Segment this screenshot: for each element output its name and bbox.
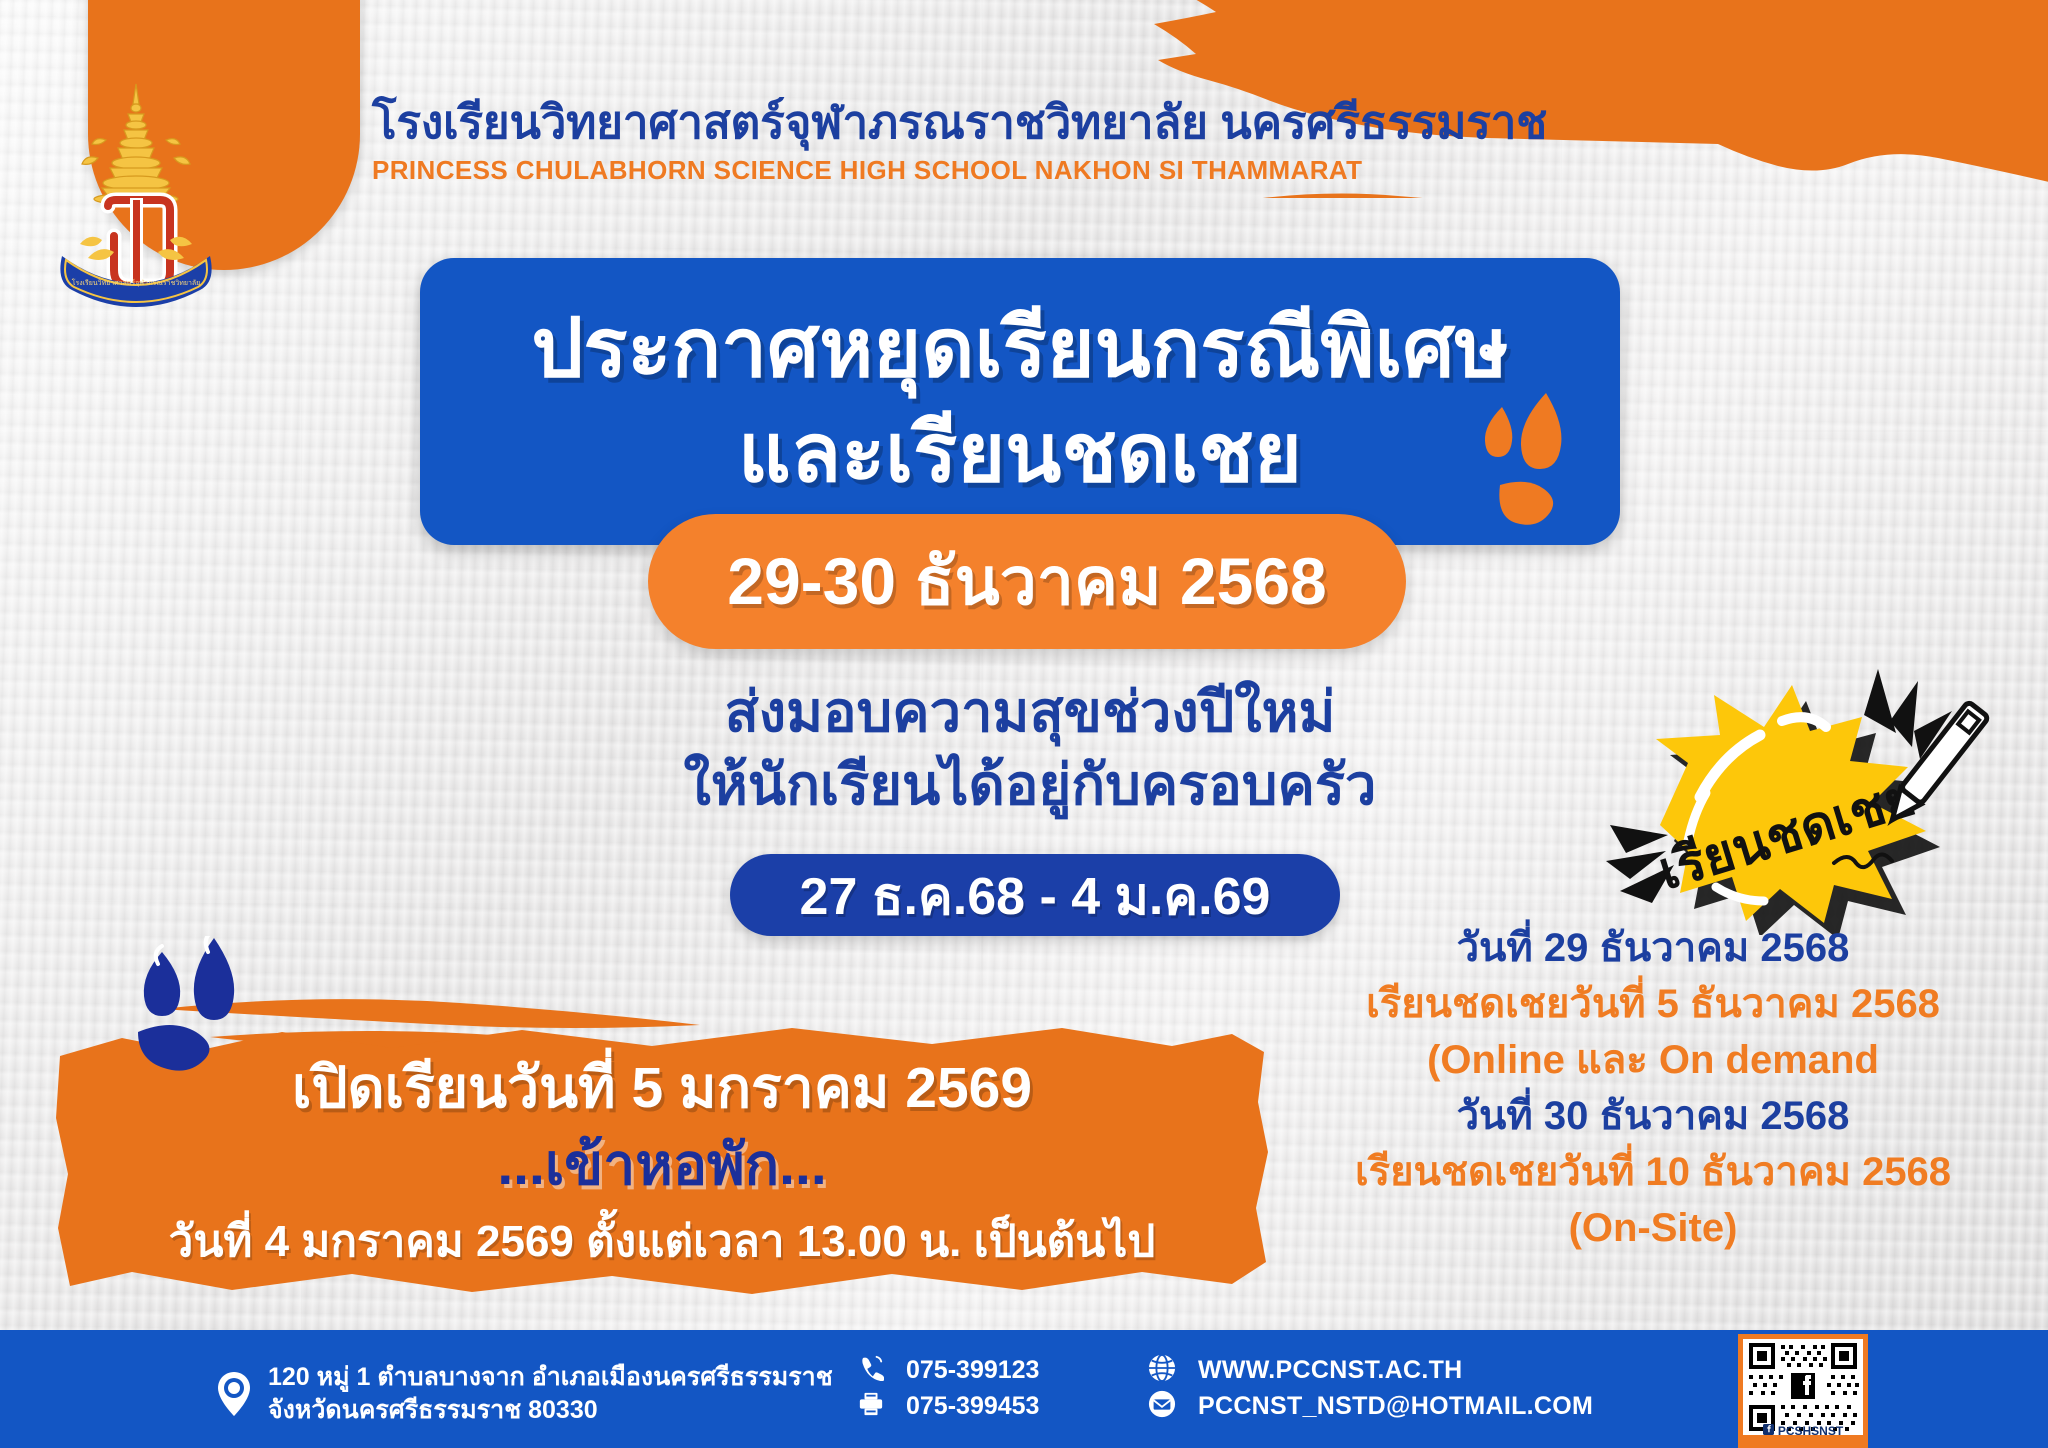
makeup-line-5: เรียนชดเชยวันที่ 10 ธันวาคม 2568 xyxy=(1258,1144,2048,1200)
footer-phone-row: 075-399123 xyxy=(858,1352,1039,1388)
message-line-1: ส่งมอบความสุขช่วงปีใหม่ xyxy=(560,676,1500,749)
envelope-icon xyxy=(1148,1390,1184,1423)
fax-number: 075-399453 xyxy=(906,1392,1039,1421)
facebook-icon xyxy=(1763,1424,1774,1438)
title-line-1: ประกาศหยุดเรียนกรณีพิเศษ xyxy=(531,305,1508,394)
message-block: ส่งมอบความสุขช่วงปีใหม่ ให้นักเรียนได้อย… xyxy=(560,676,1500,822)
address-line-1: 120 หมู่ 1 ตำบลบางจาก อำเภอเมืองนครศรีธร… xyxy=(268,1361,833,1394)
makeup-line-3: (Online และ On demand xyxy=(1258,1032,2048,1088)
holiday-date-text: 29-30 ธันวาคม 2568 xyxy=(727,529,1326,634)
announcement-title-card: ประกาศหยุดเรียนกรณีพิเศษ และเรียนชดเชย xyxy=(420,258,1620,545)
reopen-line-1: เปิดเรียนวันที่ 5 มกราคม 2569 xyxy=(292,1057,1032,1120)
footer-address-lines: 120 หมู่ 1 ตำบลบางจาก อำเภอเมืองนครศรีธร… xyxy=(268,1361,833,1426)
makeup-line-6: (On-Site) xyxy=(1258,1200,2048,1256)
makeup-class-badge: เรียนชดเชย xyxy=(1596,655,2006,935)
message-line-2: ให้นักเรียนได้อยู่กับครอบครัว xyxy=(560,749,1500,822)
footer-web-group: WWW.PCCNST.AC.TH PCCNST_NSTD@HOTMAIL.COM xyxy=(1148,1352,1593,1424)
holiday-range-pill: 27 ธ.ค.68 - 4 ม.ค.69 xyxy=(730,854,1340,936)
makeup-line-1: วันที่ 29 ธันวาคม 2568 xyxy=(1258,920,2048,976)
phone-icon xyxy=(858,1355,892,1386)
header-block: โรงเรียนวิทยาศาสตร์จุฬาภรณราชวิทยาลัย นค… xyxy=(372,96,1552,186)
globe-icon xyxy=(1148,1354,1184,1387)
footer-address: 120 หมู่ 1 ตำบลบางจาก อำเภอเมืองนครศรีธร… xyxy=(212,1361,833,1426)
school-crest: โรงเรียนวิทยาศาสตร์จุฬาภรณราชวิทยาลัย xyxy=(0,60,272,330)
reopen-line-2: ...เข้าหอพัก... xyxy=(497,1134,826,1197)
title-line-2: และเรียนชดเชย xyxy=(738,410,1302,499)
orange-droplets-icon xyxy=(1464,389,1594,539)
location-pin-icon xyxy=(212,1371,256,1417)
reopen-info-block: เปิดเรียนวันที่ 5 มกราคม 2569 ...เข้าหอพ… xyxy=(52,1022,1272,1302)
fax-icon xyxy=(858,1391,892,1422)
footer-fax-row: 075-399453 xyxy=(858,1388,1039,1424)
qr-code-image xyxy=(1743,1339,1863,1435)
makeup-line-2: เรียนชดเชยวันที่ 5 ธันวาคม 2568 xyxy=(1258,976,2048,1032)
footer-email-row: PCCNST_NSTD@HOTMAIL.COM xyxy=(1148,1388,1593,1424)
qr-code-label: PCSHSNST xyxy=(1738,1424,1868,1438)
qr-label-text: PCSHSNST xyxy=(1778,1424,1843,1438)
blue-droplets-icon xyxy=(128,936,298,1076)
makeup-schedule-list: วันที่ 29 ธันวาคม 2568 เรียนชดเชยวันที่ … xyxy=(1258,920,2048,1256)
address-line-2: จังหวัดนครศรีธรรมราช 80330 xyxy=(268,1394,833,1427)
website-url[interactable]: WWW.PCCNST.AC.TH xyxy=(1198,1356,1463,1385)
footer-phone-group: 075-399123 075-399453 xyxy=(858,1352,1039,1424)
phone-number: 075-399123 xyxy=(906,1356,1039,1385)
footer-website-row: WWW.PCCNST.AC.TH xyxy=(1148,1352,1593,1388)
reopen-line-3: วันที่ 4 มกราคม 2569 ตั้งแต่เวลา 13.00 น… xyxy=(169,1218,1156,1266)
school-name-english: PRINCESS CHULABHORN SCIENCE HIGH SCHOOL … xyxy=(372,155,1552,186)
makeup-line-4: วันที่ 30 ธันวาคม 2568 xyxy=(1258,1088,2048,1144)
holiday-range-text: 27 ธ.ค.68 - 4 ม.ค.69 xyxy=(800,854,1271,937)
school-name-thai: โรงเรียนวิทยาศาสตร์จุฬาภรณราชวิทยาลัย นค… xyxy=(372,96,1552,149)
email-address[interactable]: PCCNST_NSTD@HOTMAIL.COM xyxy=(1198,1392,1593,1421)
poster-canvas: โรงเรียนวิทยาศาสตร์จุฬาภรณราชวิทยาลัย โร… xyxy=(0,0,2048,1448)
svg-text:โรงเรียนวิทยาศาสตร์จุฬาภรณราชว: โรงเรียนวิทยาศาสตร์จุฬาภรณราชวิทยาลัย xyxy=(72,278,201,287)
holiday-date-pill: 29-30 ธันวาคม 2568 xyxy=(648,514,1406,649)
